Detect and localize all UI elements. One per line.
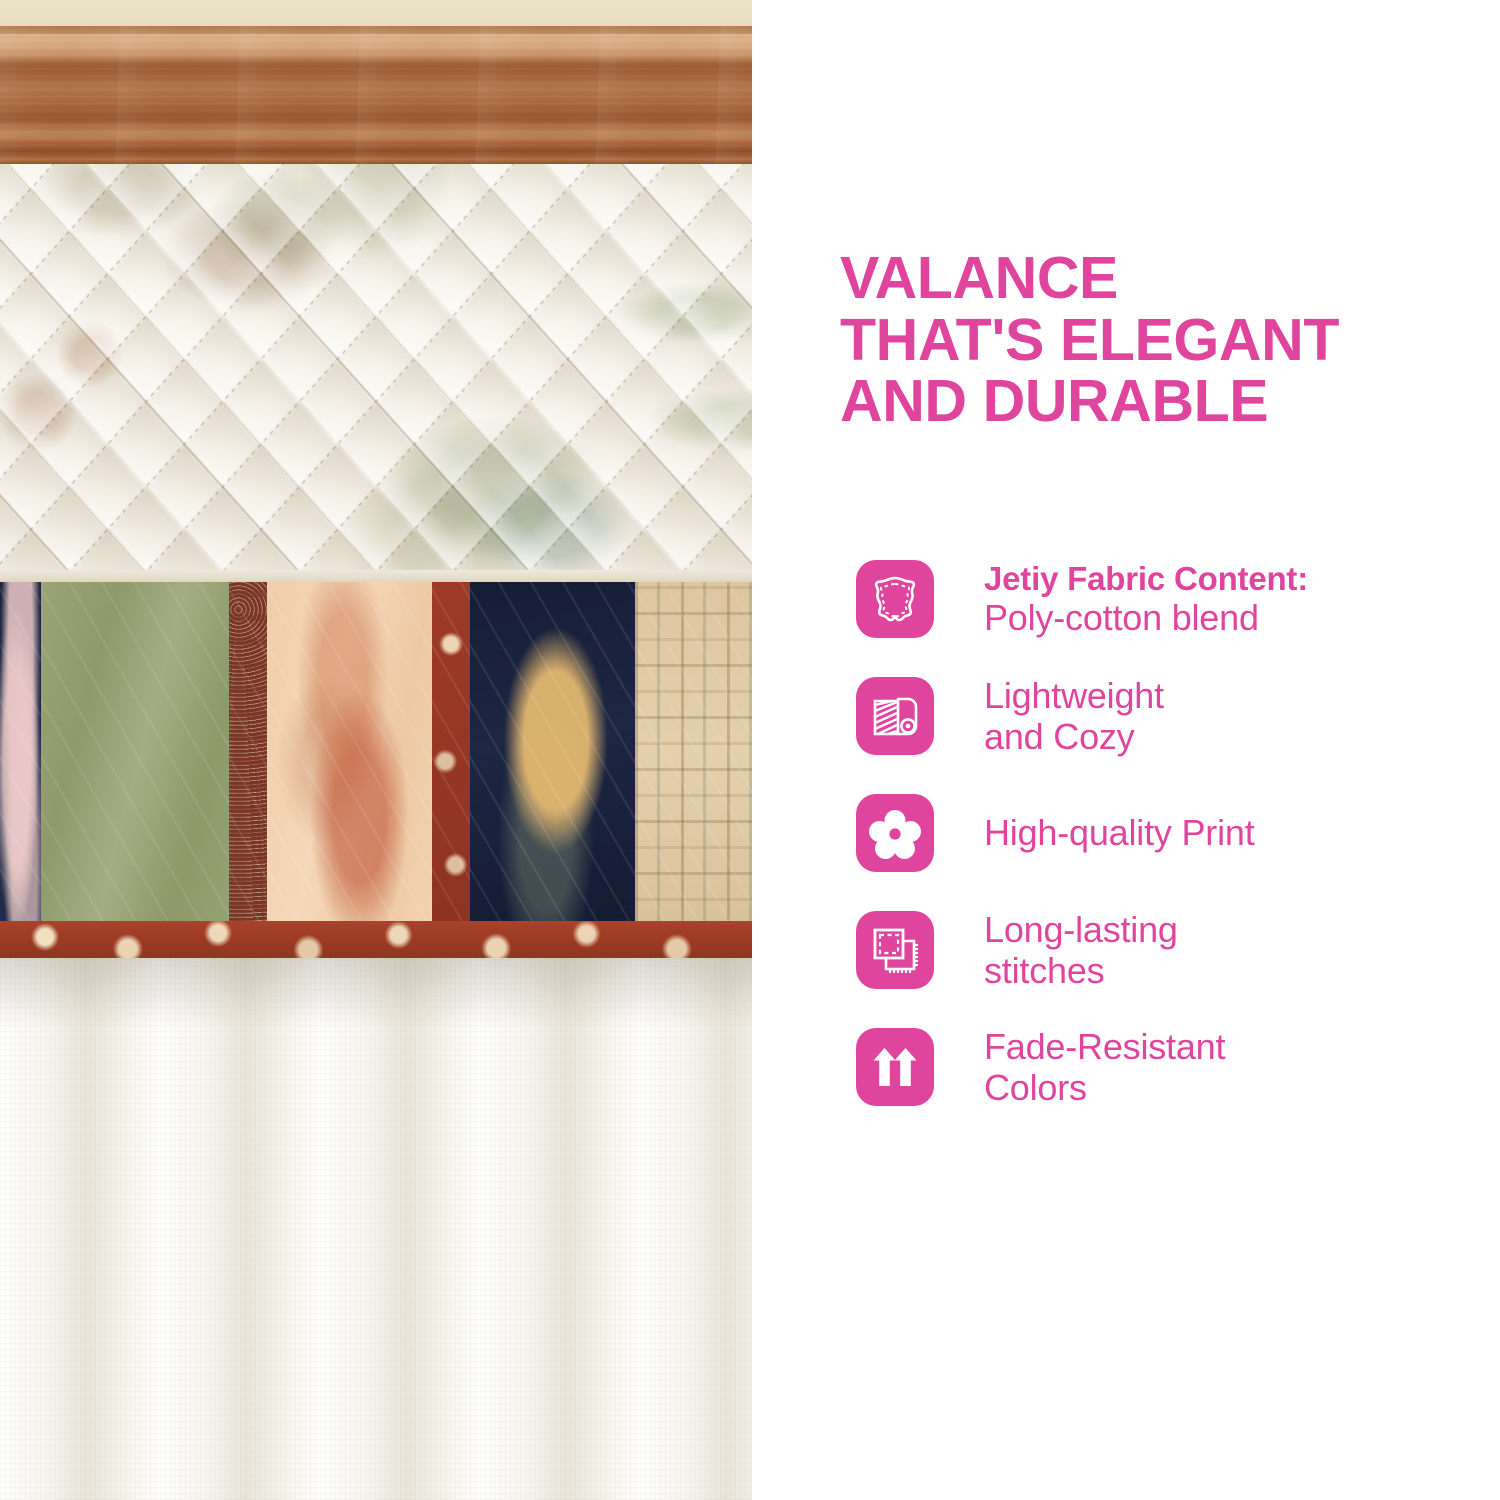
- feature-item-fade-resistant: Fade-Resistant Colors: [856, 1024, 1476, 1110]
- feature-value-line-2: stitches: [984, 950, 1178, 991]
- curtain-top-shadow: [0, 958, 752, 1028]
- feature-item-stitches: Long-lasting stitches: [856, 907, 1476, 993]
- feature-text-fade-resistant: Fade-Resistant Colors: [984, 1026, 1225, 1108]
- headline-line-2: THAT'S ELEGANT: [840, 307, 1339, 373]
- flower-icon: [856, 794, 934, 872]
- patch-navy-gold-flower: [470, 582, 635, 927]
- wood-highlight: [0, 34, 752, 68]
- fabric-roll-icon: [856, 677, 934, 755]
- quilted-valance-top: [0, 164, 752, 578]
- leather-hide-icon: [856, 560, 934, 638]
- patch-peach-floral: [267, 582, 432, 927]
- product-photo: [0, 0, 752, 1500]
- feature-value-line-1: Fade-Resistant: [984, 1026, 1225, 1067]
- feature-item-print-quality: High-quality Print: [856, 790, 1476, 876]
- sheer-curtain: [0, 958, 752, 1500]
- red-floral-binding: [0, 921, 752, 961]
- feature-text-fabric-content: Jetiy Fabric Content: Poly-cotton blend: [984, 560, 1308, 639]
- wooden-cornice: [0, 26, 752, 166]
- feature-item-fabric-content: Jetiy Fabric Content: Poly-cotton blend: [856, 556, 1476, 642]
- feature-value: High-quality Print: [984, 812, 1255, 853]
- patchwork-strip: [0, 582, 752, 927]
- patch-tan-plaid: [635, 582, 752, 927]
- feature-list: Jetiy Fabric Content: Poly-cotton blend: [856, 556, 1476, 1110]
- patch-navy-floral: [0, 582, 41, 927]
- headline-line-1: VALANCE: [840, 245, 1118, 311]
- feature-text-stitches: Long-lasting stitches: [984, 909, 1178, 991]
- feature-value-line-1: Lightweight: [984, 675, 1164, 716]
- feature-value-line-2: Colors: [984, 1067, 1225, 1108]
- patch-red-floral: [432, 582, 470, 927]
- fabric-layers-icon: [856, 911, 934, 989]
- feature-value: Poly-cotton blend: [984, 597, 1308, 638]
- patch-rust-dotted: [229, 582, 267, 927]
- feature-text-lightweight: Lightweight and Cozy: [984, 675, 1164, 757]
- feature-value-line-1: Long-lasting: [984, 909, 1178, 950]
- curtain-weave-texture: [0, 958, 752, 1500]
- headline-line-3: AND DURABLE: [840, 368, 1268, 434]
- patch-sage-green: [41, 582, 229, 927]
- feature-text-print-quality: High-quality Print: [984, 812, 1255, 853]
- feature-label: Jetiy Fabric Content:: [984, 560, 1308, 598]
- double-up-arrow-icon: [856, 1028, 934, 1106]
- quilt-diamond-stitching: [0, 164, 752, 578]
- wall-background: [0, 0, 752, 28]
- content-panel: VALANCE THAT'S ELEGANT AND DURABLE Jetiy…: [752, 0, 1500, 1500]
- feature-value-line-2: and Cozy: [984, 716, 1164, 757]
- feature-item-lightweight: Lightweight and Cozy: [856, 673, 1476, 759]
- page-title: VALANCE THAT'S ELEGANT AND DURABLE: [840, 248, 1470, 433]
- infographic-canvas: VALANCE THAT'S ELEGANT AND DURABLE Jetiy…: [0, 0, 1500, 1500]
